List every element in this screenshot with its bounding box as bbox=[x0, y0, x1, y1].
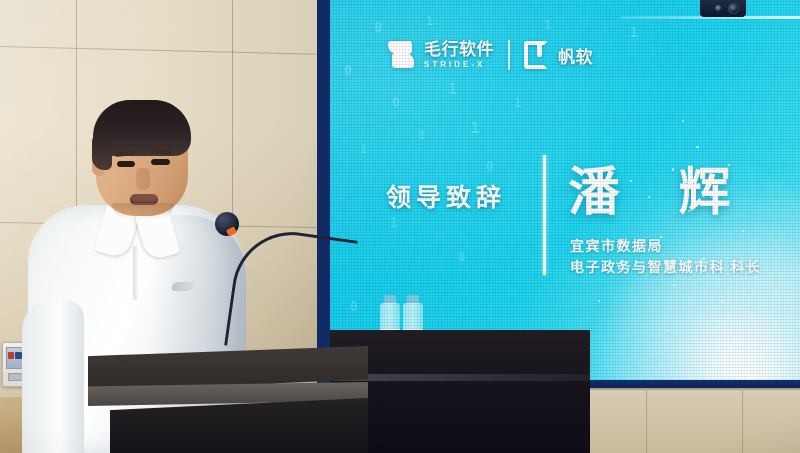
front-table-seam bbox=[646, 390, 647, 453]
podium-side-panel bbox=[330, 330, 590, 453]
slide-affiliation-line-1: 宜宾市数据局 bbox=[570, 236, 761, 257]
binary-glyph: 0 bbox=[350, 300, 358, 315]
binary-glyph: 1 bbox=[470, 118, 480, 137]
slide-affiliation: 宜宾市数据局 电子政务与智慧城市科 科长 bbox=[570, 236, 761, 278]
fanruan-logo-cn: 帆软 bbox=[558, 43, 593, 68]
stride-x-logo-en: STRIDE-X bbox=[424, 61, 494, 69]
speaker-nose bbox=[136, 168, 150, 190]
binary-glyph: 0 bbox=[344, 64, 352, 79]
binary-glyph: 1 bbox=[544, 18, 551, 32]
stride-x-logo-text: 毛行软件 STRIDE-X bbox=[424, 41, 494, 69]
binary-glyph: 0 bbox=[486, 160, 494, 175]
speaker-shirt-chest-logo bbox=[172, 282, 194, 291]
binary-glyph: 1 bbox=[448, 80, 457, 98]
speaker-hair-sideburn bbox=[92, 132, 112, 170]
logo-separator bbox=[508, 40, 510, 70]
podium-side-highlight bbox=[330, 374, 590, 381]
front-table-seam bbox=[742, 390, 743, 453]
led-screen: 0 1 0 1 1 0 0 1 0 1 0 1 0 0 1 1 0 1 毛行软件… bbox=[330, 0, 800, 386]
binary-glyph: 0 bbox=[374, 20, 382, 36]
front-table bbox=[560, 388, 800, 453]
speaker-eye-left bbox=[117, 161, 135, 167]
binary-glyph: 1 bbox=[426, 14, 433, 28]
conference-photo: 0 1 0 1 1 0 0 1 0 1 0 1 0 0 1 1 0 1 毛行软件… bbox=[0, 0, 800, 453]
binary-glyph: 1 bbox=[360, 142, 367, 156]
front-table-edge bbox=[560, 388, 800, 390]
camera-sensor-icon bbox=[715, 5, 722, 12]
slide-vertical-divider bbox=[543, 155, 546, 275]
speaker-chin-shading bbox=[112, 203, 174, 219]
stride-x-logo-icon bbox=[388, 41, 414, 69]
slide-headline: 领导致辞 bbox=[386, 178, 506, 214]
speaker-shirt-placket bbox=[133, 246, 139, 300]
binary-glyph: 1 bbox=[390, 216, 398, 231]
binary-glyph: 1 bbox=[514, 96, 521, 110]
camera-lens-icon bbox=[728, 3, 739, 14]
binary-glyph: 0 bbox=[458, 250, 465, 264]
stride-x-logo-cn: 毛行软件 bbox=[424, 41, 494, 58]
fanruan-logo-icon bbox=[524, 41, 548, 69]
slide-affiliation-line-2: 电子政务与智慧城市科 科长 bbox=[570, 257, 761, 278]
binary-glyph: 1 bbox=[630, 26, 638, 41]
binary-glyph: 0 bbox=[418, 128, 425, 142]
speaker-left-arm bbox=[22, 300, 84, 453]
slide-logo-row: 毛行软件 STRIDE-X 帆软 bbox=[388, 40, 593, 70]
slide-speaker-name: 潘 辉 bbox=[568, 150, 752, 225]
speaker-eye-right bbox=[151, 159, 170, 165]
binary-glyph: 0 bbox=[392, 96, 400, 111]
ceiling-camera bbox=[700, 0, 746, 17]
